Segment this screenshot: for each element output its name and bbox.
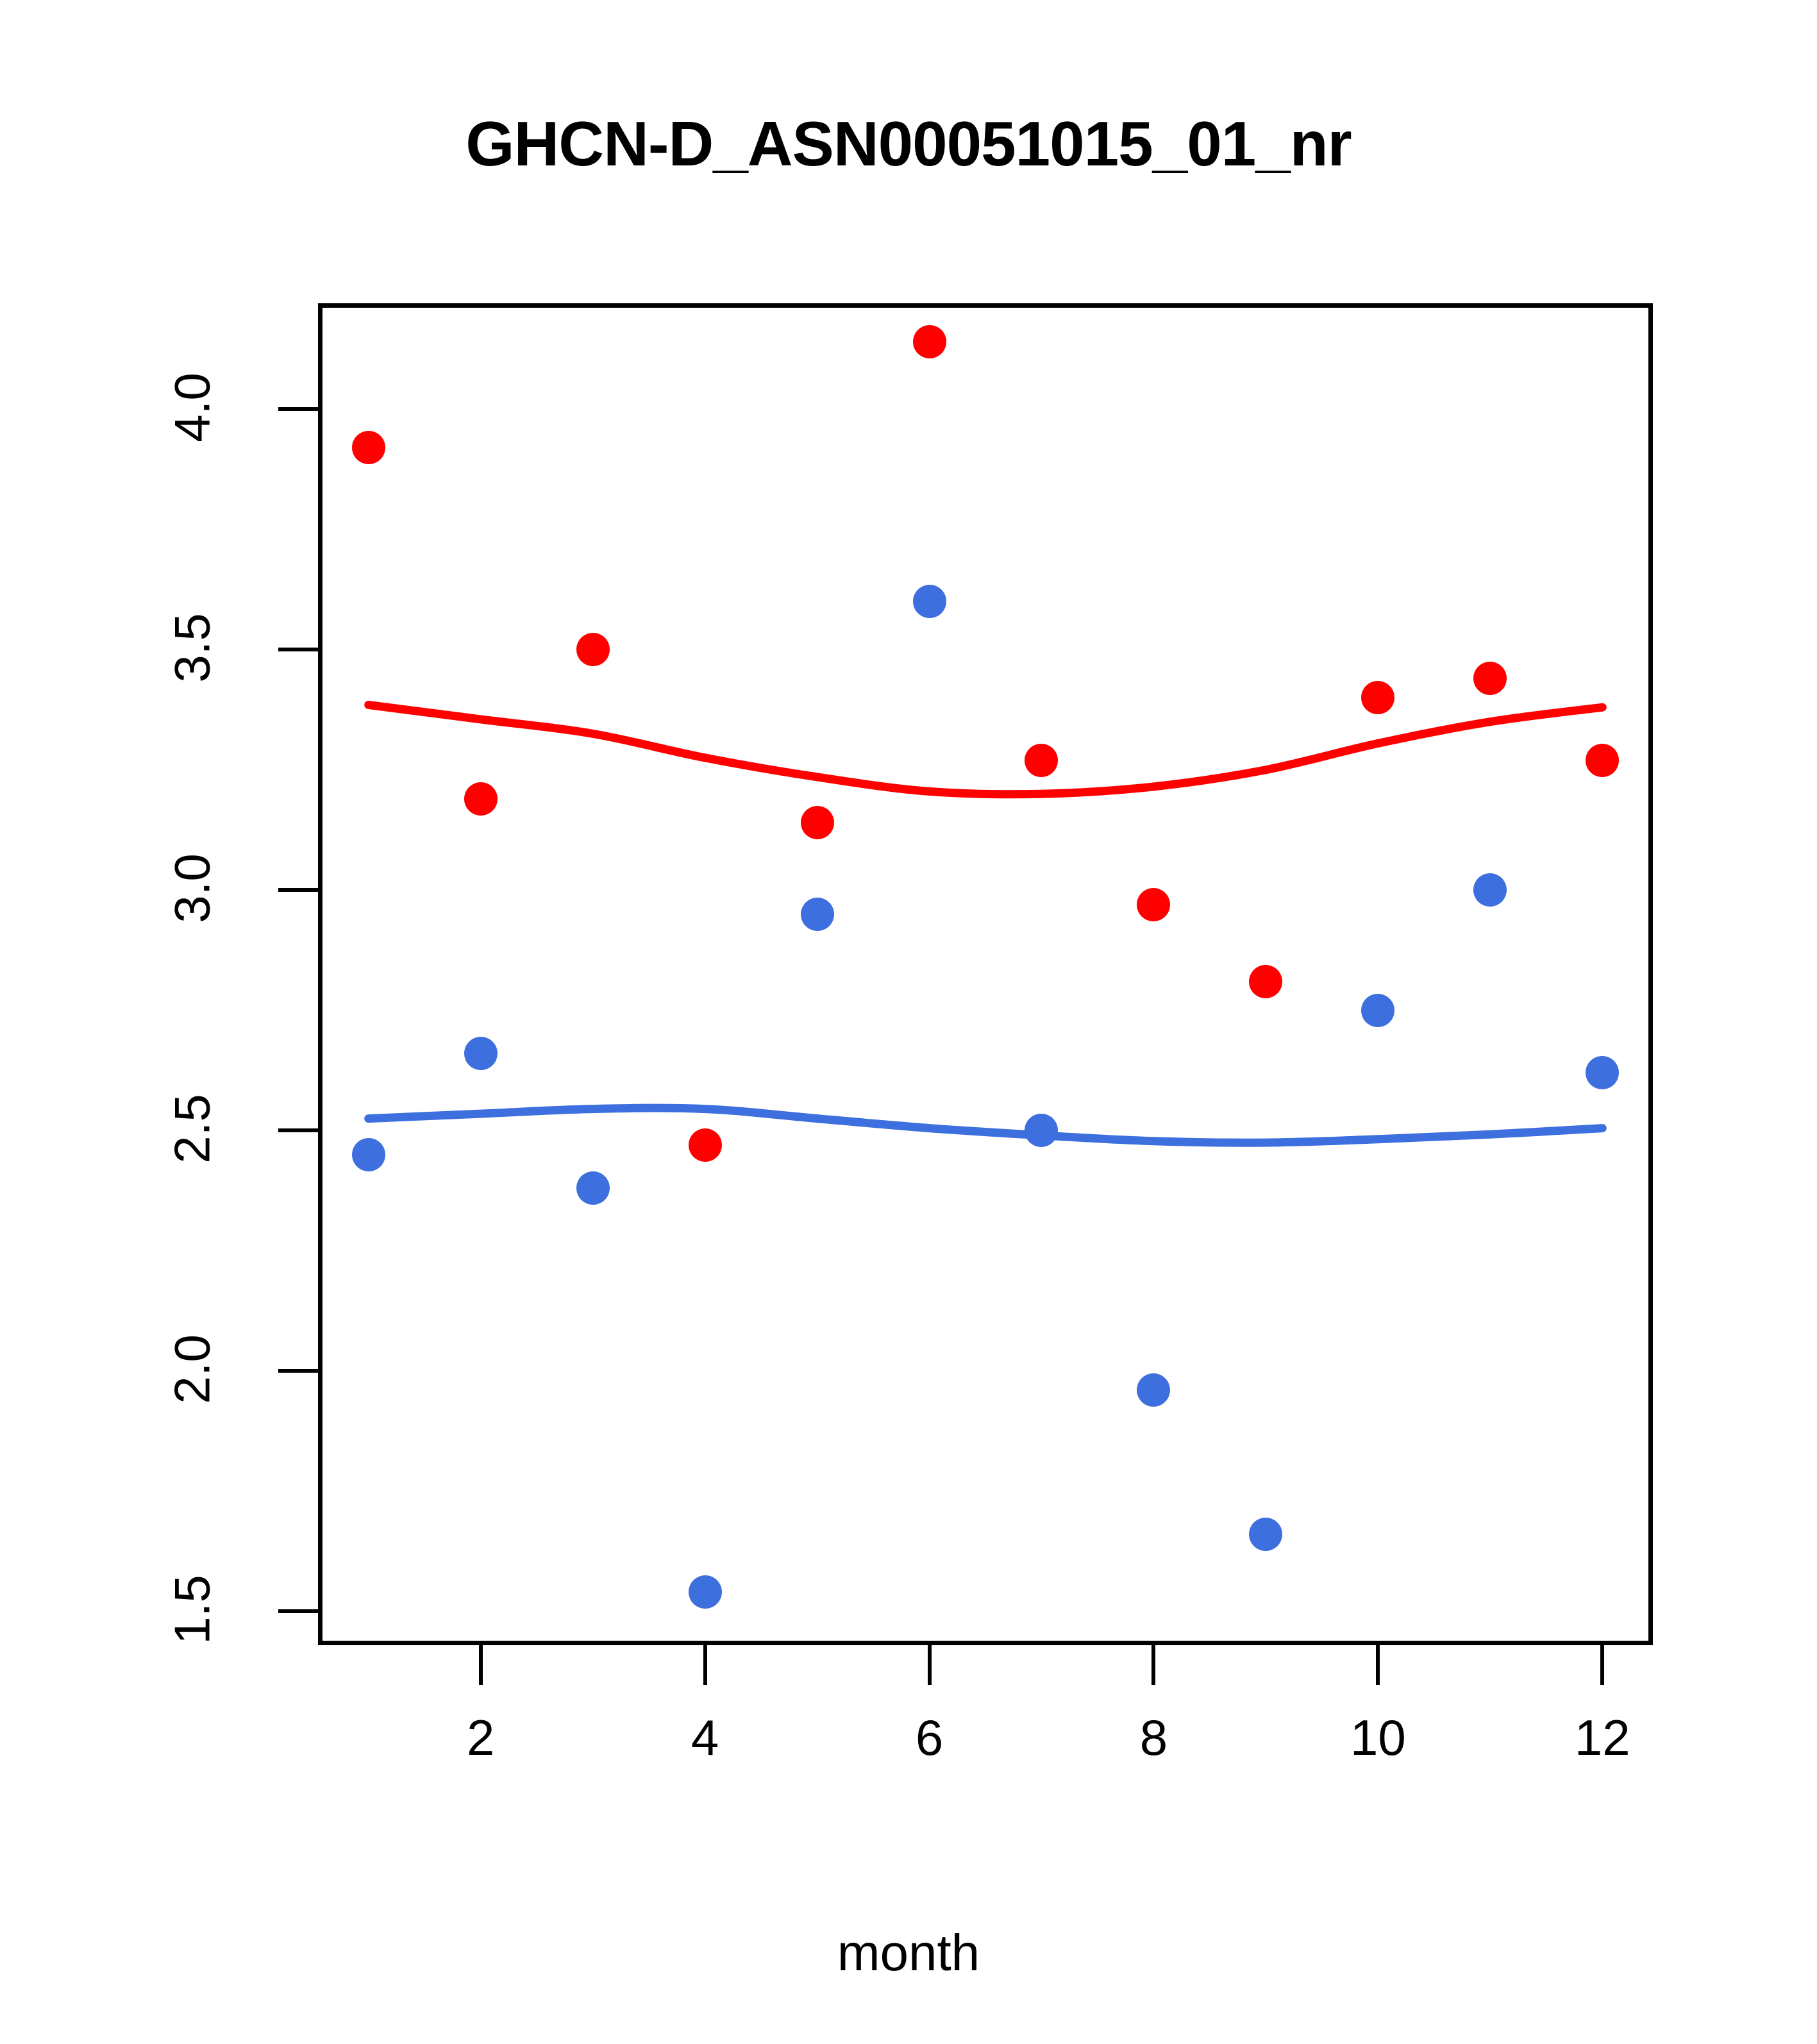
x-axis-label: month [0,1923,1817,1982]
x-tick-mark [1151,1645,1155,1685]
x-tick-label: 8 [1089,1709,1218,1767]
y-tick-label: 4.0 [163,324,222,491]
data-point [1137,888,1170,921]
data-point [1361,994,1394,1027]
y-tick-mark [278,1369,318,1373]
y-tick-label: 2.0 [163,1286,222,1453]
data-point [913,585,946,618]
data-point [464,1037,498,1070]
data-point [1586,744,1619,777]
x-tick-label: 6 [866,1709,994,1767]
x-tick-mark [703,1645,707,1685]
x-tick-label: 10 [1314,1709,1442,1767]
y-tick-label: 3.5 [163,565,222,732]
plot-area-border [318,303,1653,1645]
page-title: GHCN-D_ASN00051015_01_nr [0,108,1817,180]
data-point [352,431,385,464]
data-point [464,782,498,816]
x-tick-label: 12 [1538,1709,1666,1767]
y-tick-label: 2.5 [163,1046,222,1212]
y-tick-label: 3.0 [163,805,222,972]
data-point [576,633,610,666]
data-point [689,1128,722,1162]
x-tick-mark [479,1645,483,1685]
y-tick-mark [278,1128,318,1132]
chart-figure: GHCN-D_ASN00051015_01_nr 1.52.02.53.03.5… [0,0,1817,2044]
y-tick-mark [278,1609,318,1613]
data-point [801,898,834,931]
data-point [1249,965,1282,998]
data-point [801,806,834,839]
data-point [689,1575,722,1609]
data-point [1025,744,1058,777]
y-tick-mark [278,648,318,651]
y-tick-mark [278,407,318,411]
data-point [913,325,946,358]
x-tick-label: 2 [417,1709,545,1767]
x-tick-mark [1376,1645,1380,1685]
x-tick-label: 4 [641,1709,769,1767]
y-tick-mark [278,888,318,892]
data-point [576,1171,610,1205]
x-tick-mark [1600,1645,1604,1685]
data-point [352,1138,385,1171]
y-tick-label: 1.5 [163,1527,222,1693]
x-tick-mark [928,1645,932,1685]
